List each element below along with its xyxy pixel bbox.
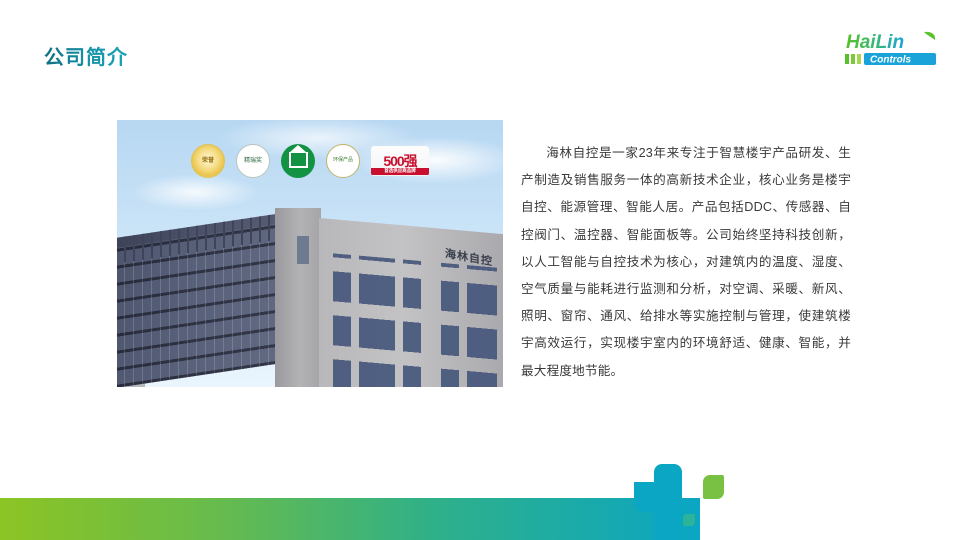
house-icon (289, 152, 308, 168)
circular-emblem-badge: 环保产品 (326, 144, 360, 178)
slide-root: 公司简介 HaiLin Controls 荣誉 (0, 0, 960, 540)
logo-bar-3 (857, 54, 861, 64)
gold-seal-badge-label: 荣誉 (202, 158, 214, 164)
logo-bar-2 (851, 54, 855, 64)
decorative-hook-stem (654, 464, 682, 540)
building-core-tower (275, 208, 321, 387)
circular-emblem-badge-label: 环保产品 (333, 158, 353, 163)
decorative-square-teal (683, 514, 695, 526)
logo-bar-1 (845, 54, 849, 64)
green-house-badge (281, 144, 315, 178)
top-500-subtitle: 首选供应商品牌 (371, 168, 429, 175)
certification-badge-row: 荣誉 精瑞奖 环保产品 500强 首选供应商品牌 (117, 144, 503, 178)
white-seal-badge-label: 精瑞奖 (244, 158, 262, 164)
building-left-wing (117, 212, 291, 387)
building-right-wing: 海林自控 (319, 218, 503, 387)
hailin-controls-logo: HaiLin Controls (832, 28, 952, 72)
decorative-square-green (703, 475, 724, 499)
logo-wordmark: HaiLin (846, 32, 904, 53)
company-intro-paragraph: 海林自控是一家23年来专注于智慧楼宇产品研发、生产制造及销售服务一体的高新技术企… (521, 140, 851, 385)
building-window-grid (327, 253, 497, 387)
top-500-badge: 500强 首选供应商品牌 (371, 146, 429, 176)
gold-seal-badge: 荣誉 (191, 144, 225, 178)
building-illustration: 海林自控 (117, 206, 503, 387)
bottom-gradient-bar (0, 498, 700, 540)
white-seal-badge: 精瑞奖 (236, 144, 270, 178)
decorative-hook-shape (634, 464, 682, 540)
top-500-number: 500强 (383, 154, 416, 168)
logo-controls-text: Controls (870, 55, 912, 66)
company-building-photo: 荣誉 精瑞奖 环保产品 500强 首选供应商品牌 (117, 120, 503, 387)
page-title: 公司简介 (44, 41, 128, 70)
logo-leaf-icon (924, 32, 935, 40)
logo-svg: HaiLin Controls (832, 28, 952, 72)
